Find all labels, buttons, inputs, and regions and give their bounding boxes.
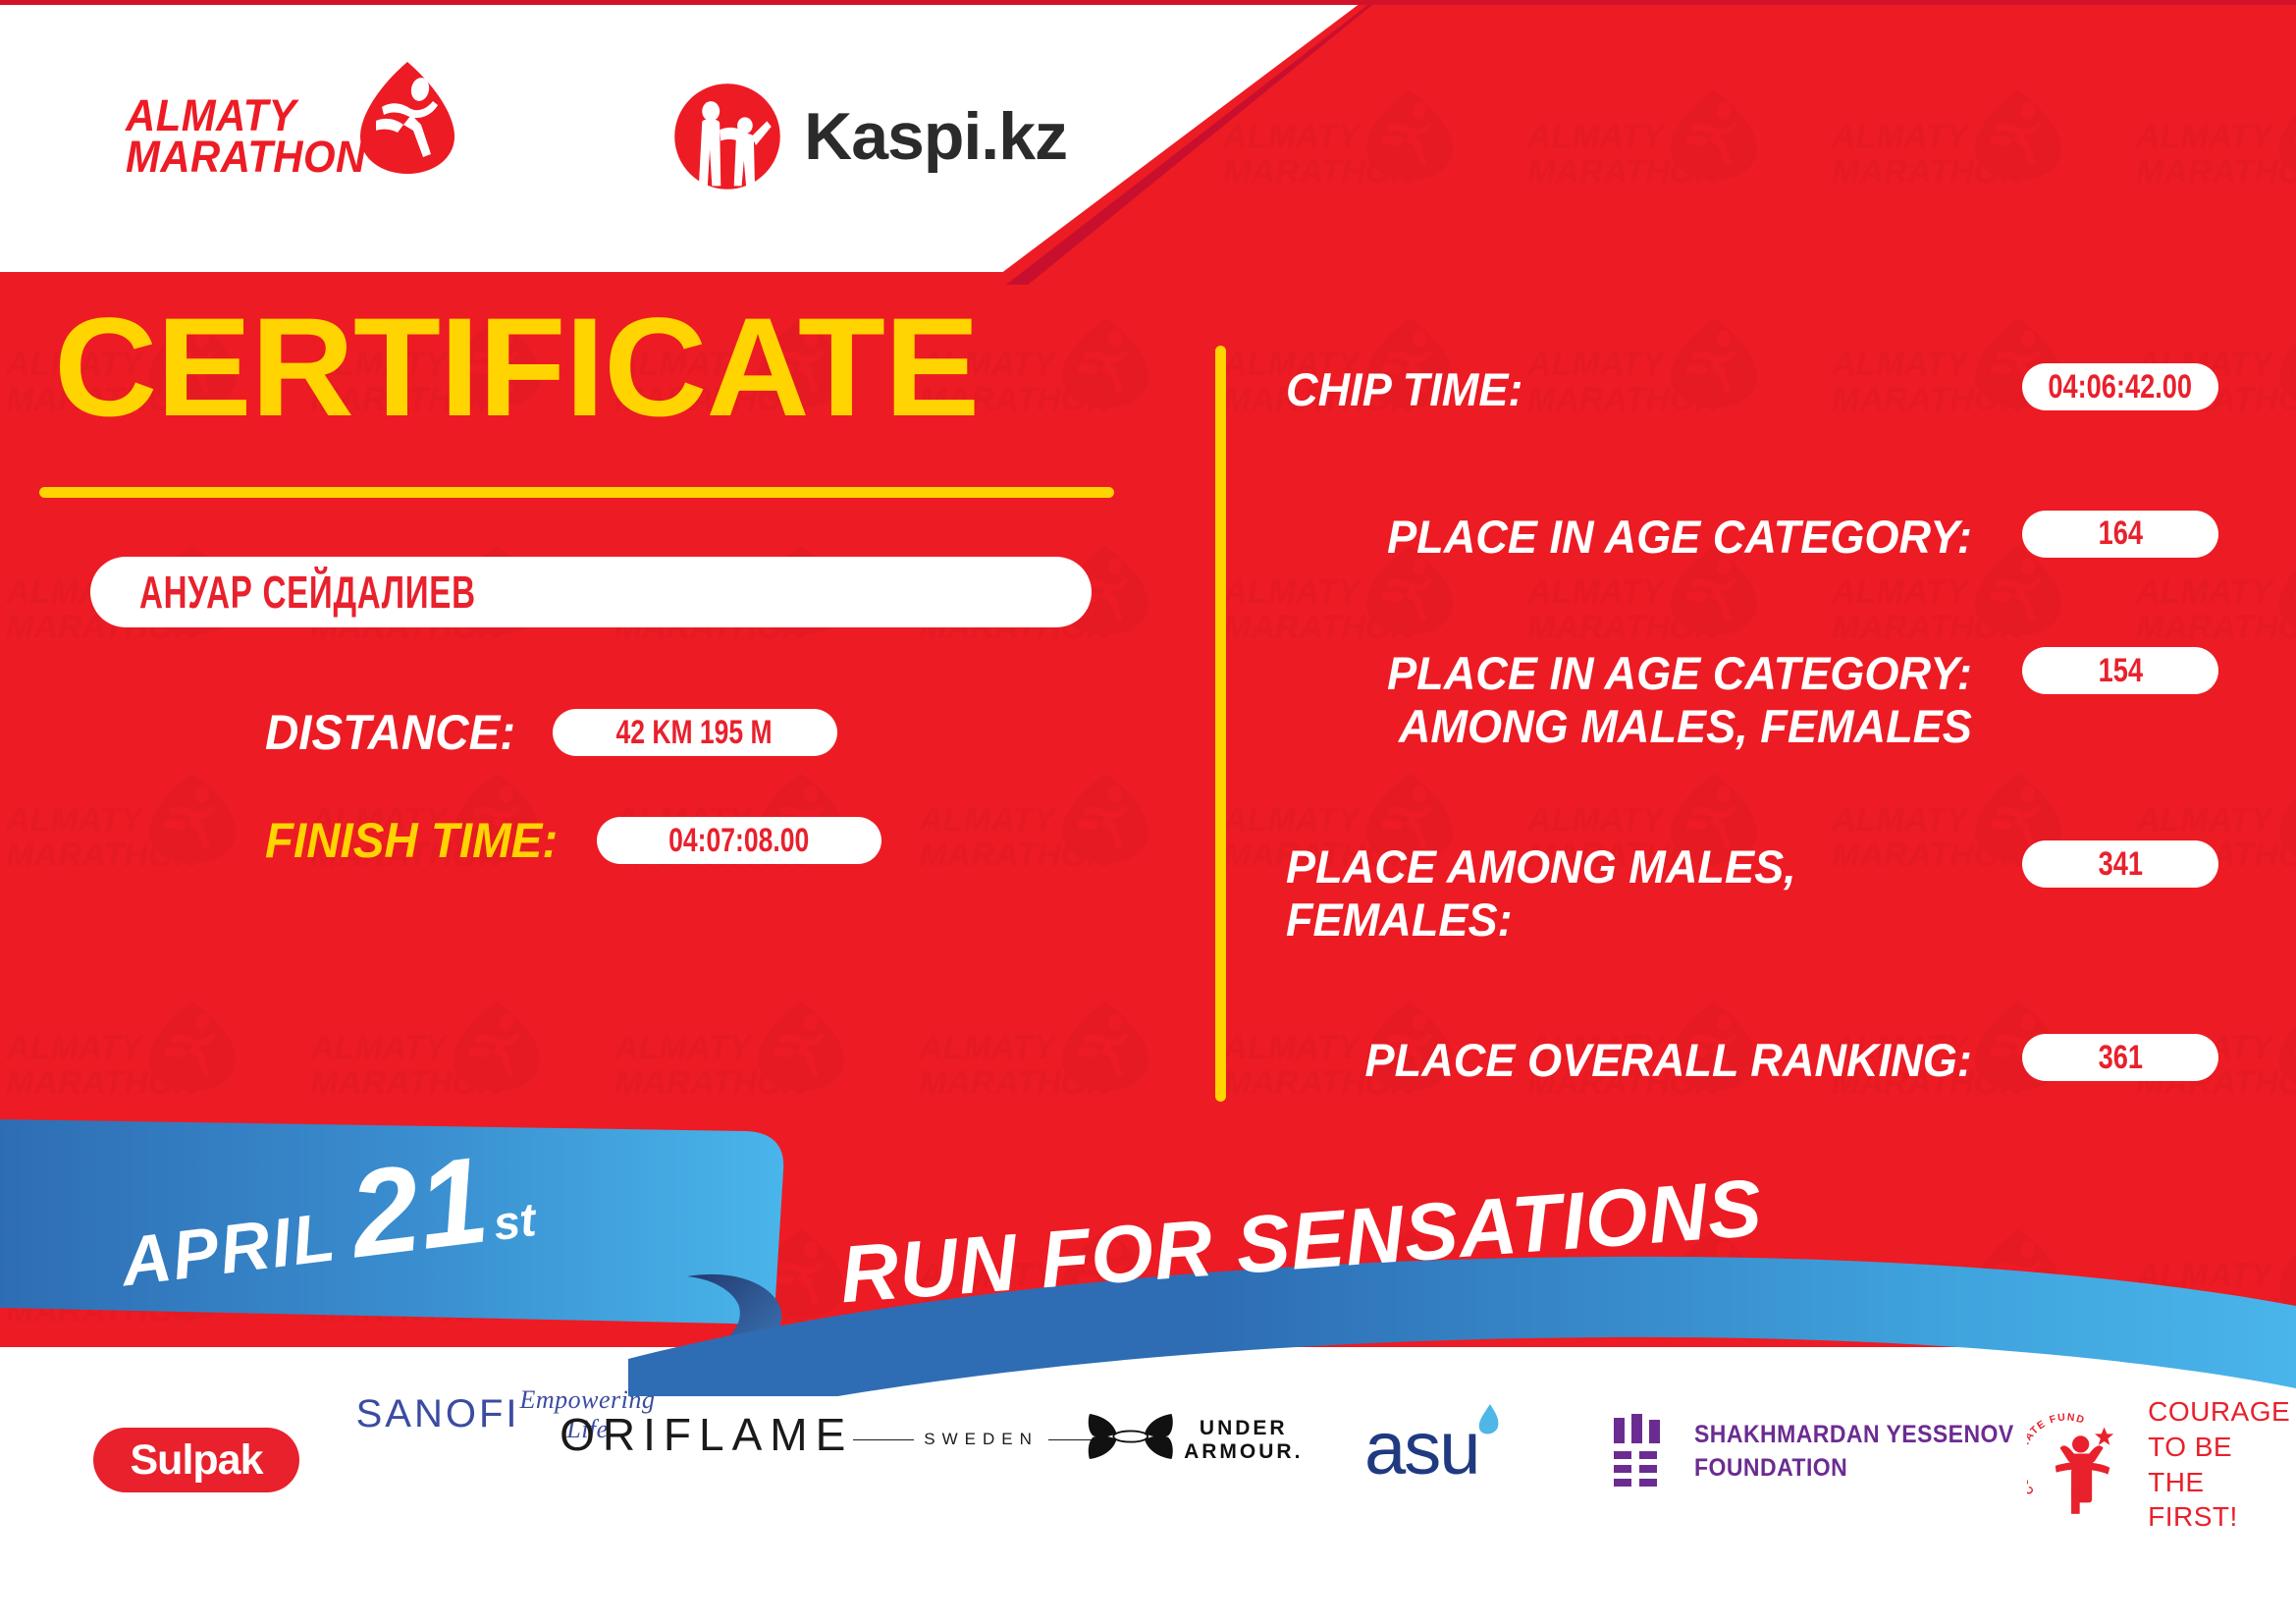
sponsor-courage-fund: CORPORATE FUND COURAGE TO BE THE FIRST! bbox=[2027, 1394, 2296, 1535]
sponsor-sulpak: Sulpak bbox=[93, 1428, 299, 1492]
almaty-marathon-line2: MARATHON bbox=[126, 136, 366, 177]
place-in-age-category-value: 164 bbox=[2098, 514, 2142, 553]
place-among-gender-label: PLACE AMONG MALES, FEMALES: bbox=[1286, 840, 1972, 946]
vertical-yellow-divider bbox=[1215, 346, 1226, 1102]
oriflame-label: ORIFLAME bbox=[560, 1408, 853, 1461]
courage-label-line1: COURAGE bbox=[2148, 1394, 2296, 1430]
asu-label: asu bbox=[1364, 1406, 1479, 1491]
oriflame-sub: SWEDEN bbox=[853, 1430, 1109, 1449]
place-in-age-category-row: PLACE IN AGE CATEGORY: 164 bbox=[1286, 511, 2218, 564]
sanofi-label: SANOFI bbox=[356, 1392, 520, 1436]
place-in-age-category-gender-label-line1: PLACE IN AGE CATEGORY: bbox=[1286, 647, 1972, 700]
place-overall-ranking-row: PLACE OVERALL RANKING: 361 bbox=[1286, 1034, 2218, 1087]
courage-label-line2: TO BE bbox=[2148, 1430, 2296, 1465]
running-droplet-icon bbox=[358, 60, 456, 176]
finish-time-value: 04:07:08.00 bbox=[668, 822, 809, 860]
event-day-suffix: st bbox=[491, 1193, 539, 1252]
finish-time-row: FINISH TIME: 04:07:08.00 bbox=[265, 812, 1188, 869]
place-overall-ranking-label: PLACE OVERALL RANKING: bbox=[1286, 1034, 1972, 1087]
place-among-gender-value: 341 bbox=[2098, 845, 2142, 884]
place-in-age-category-value-pill: 164 bbox=[2022, 511, 2218, 558]
yessenov-label-line2: FOUNDATION bbox=[1694, 1452, 2014, 1486]
place-in-age-category-gender-label: PLACE IN AGE CATEGORY: AMONG MALES, FEMA… bbox=[1286, 647, 1972, 752]
results-column: CHIP TIME: 04:06:42.00 PLACE IN AGE CATE… bbox=[1286, 363, 2218, 1087]
chip-time-row: CHIP TIME: 04:06:42.00 bbox=[1286, 363, 2218, 416]
yessenov-foundation-label: SHAKHMARDAN YESSENOV FOUNDATION bbox=[1694, 1419, 2014, 1486]
finish-time-label: FINISH TIME: bbox=[265, 812, 558, 869]
distance-row: DISTANCE: 42 KM 195 M bbox=[265, 704, 1188, 761]
header-content: ALMATY MARATHON Kaspi.kz bbox=[0, 0, 1364, 272]
almaty-marathon-line1: ALMATY bbox=[126, 95, 366, 135]
participant-name-field: АНУАР СЕЙДАЛИЕВ bbox=[90, 557, 1092, 627]
chip-time-label: CHIP TIME: bbox=[1286, 363, 1972, 416]
yessenov-foundation-logo bbox=[1610, 1414, 1671, 1490]
place-in-age-category-gender-value-pill: 154 bbox=[2022, 647, 2218, 694]
place-in-age-category-gender-value: 154 bbox=[2098, 652, 2142, 690]
sponsor-oriflame: ORIFLAME SWEDEN bbox=[692, 1408, 977, 1461]
place-in-age-category-label: PLACE IN AGE CATEGORY: bbox=[1286, 511, 1972, 564]
distance-value: 42 KM 195 M bbox=[616, 714, 773, 752]
place-overall-ranking-value-pill: 361 bbox=[2022, 1034, 2218, 1081]
place-among-gender-value-pill: 341 bbox=[2022, 840, 2218, 888]
event-day: 21 bbox=[343, 1129, 495, 1285]
sponsor-asu: asu bbox=[1364, 1406, 1479, 1491]
place-overall-ranking-value: 361 bbox=[2098, 1039, 2142, 1077]
title-underline bbox=[39, 487, 1114, 498]
sulpak-logo: Sulpak bbox=[93, 1428, 299, 1492]
courage-label: COURAGE TO BE THE FIRST! bbox=[2148, 1394, 2296, 1535]
distance-value-pill: 42 KM 195 M bbox=[553, 709, 837, 756]
page-title: CERTIFICATE bbox=[54, 295, 1210, 442]
sponsor-yessenov-foundation: SHAKHMARDAN YESSENOV FOUNDATION bbox=[1610, 1414, 2042, 1490]
place-in-age-category-gender-row: PLACE IN AGE CATEGORY: AMONG MALES, FEMA… bbox=[1286, 647, 2218, 752]
place-among-gender-row: PLACE AMONG MALES, FEMALES: 341 bbox=[1286, 840, 2218, 946]
place-among-gender-label-line2: FEMALES: bbox=[1286, 893, 1972, 947]
sponsor-under-armour: UNDER ARMOUR. bbox=[1085, 1394, 1310, 1479]
asu-droplet-icon bbox=[1470, 1402, 1506, 1435]
yessenov-label-line1: SHAKHMARDAN YESSENOV bbox=[1694, 1419, 2014, 1452]
event-month: APRIL bbox=[117, 1197, 341, 1301]
distance-label: DISTANCE: bbox=[265, 704, 515, 761]
chip-time-value-pill: 04:06:42.00 bbox=[2022, 363, 2218, 410]
under-armour-logo bbox=[1085, 1394, 1176, 1479]
almaty-marathon-wordmark: ALMATY MARATHON bbox=[126, 95, 384, 177]
participant-name-value: АНУАР СЕЙДАЛИЕВ bbox=[139, 566, 476, 619]
courage-label-line3: THE FIRST! bbox=[2148, 1465, 2296, 1536]
chip-time-value: 04:06:42.00 bbox=[2049, 368, 2193, 406]
top-red-rule bbox=[0, 0, 2296, 5]
under-armour-label: UNDER ARMOUR. bbox=[1176, 1417, 1310, 1464]
place-among-gender-label-line1: PLACE AMONG MALES, bbox=[1286, 840, 1972, 893]
place-in-age-category-gender-label-line2: AMONG MALES, FEMALES bbox=[1286, 700, 1972, 753]
sponsor-bar: Sulpak SANOFI Empowering Life ORIFLAME S… bbox=[0, 1347, 2296, 1624]
certificate-page: ALMATY MARATHON Kaspi.kz bbox=[0, 0, 2296, 1624]
kaspi-people-circle-icon bbox=[672, 81, 782, 191]
oriflame-tagline: SWEDEN bbox=[924, 1430, 1039, 1449]
finish-time-value-pill: 04:07:08.00 bbox=[597, 817, 881, 864]
almaty-marathon-logo: ALMATY MARATHON bbox=[126, 95, 456, 177]
kaspi-wordmark: Kaspi.kz bbox=[804, 98, 1067, 175]
kaspi-logo: Kaspi.kz bbox=[672, 81, 1067, 191]
oriflame-rule-left bbox=[853, 1439, 914, 1440]
courage-runner-logo: CORPORATE FUND bbox=[2027, 1412, 2138, 1518]
certificate-left-column: CERTIFICATE АНУАР СЕЙДАЛИЕВ DISTANCE: 42… bbox=[0, 295, 1188, 869]
sulpak-label: Sulpak bbox=[131, 1436, 263, 1485]
